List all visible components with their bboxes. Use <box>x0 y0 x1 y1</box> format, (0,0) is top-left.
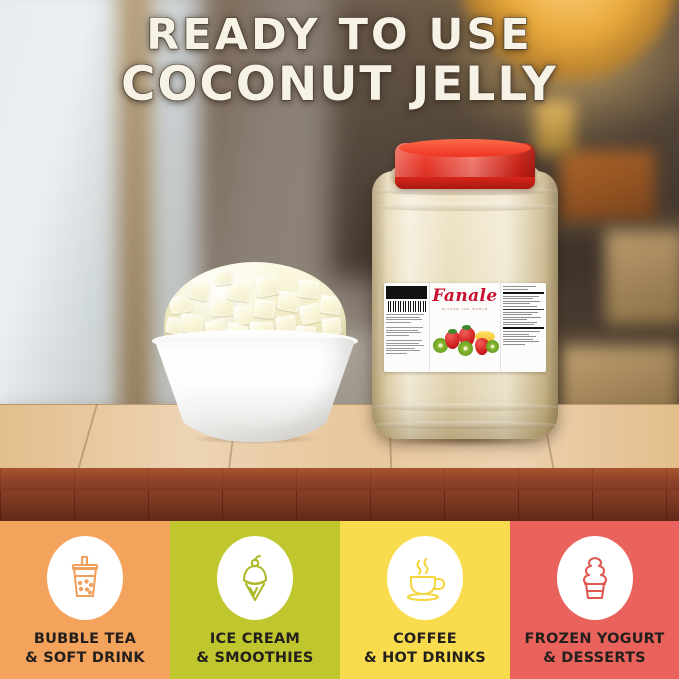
fruit-photo <box>431 323 499 357</box>
feature-bubble-tea[interactable]: BUBBLE TEA & SOFT DRINK <box>0 521 170 679</box>
feature-label: BUBBLE TEA & SOFT DRINK <box>25 630 145 668</box>
brand-name: Fanale <box>432 288 497 305</box>
jar-cap-lip <box>395 177 535 189</box>
feature-label-line-1: COFFEE <box>364 630 486 649</box>
product-label: Fanale FLAVOR THE WORLD <box>384 283 546 372</box>
jar-ring-4 <box>372 421 558 429</box>
label-header-block <box>386 286 427 299</box>
barcode <box>388 301 426 312</box>
coffee-cup-icon <box>402 554 448 602</box>
box-blur-1 <box>560 150 655 220</box>
feature-label-line-1: BUBBLE TEA <box>25 630 145 649</box>
use-case-bar: BUBBLE TEA & SOFT DRINK <box>0 521 679 679</box>
product-marketing-image: READY TO USE COCONUT JELLY <box>0 0 679 679</box>
nutrition-facts-panel <box>500 283 546 372</box>
feature-ice-cream[interactable]: ICE CREAM & SMOOTHIES <box>170 521 340 679</box>
table-front-edge <box>0 468 679 491</box>
nutrition-rows-3 <box>503 331 544 345</box>
nutrition-rows-2 <box>503 312 544 326</box>
table-front-face <box>0 491 679 522</box>
icon-badge <box>47 536 123 620</box>
icon-badge <box>217 536 293 620</box>
label-center-panel: Fanale FLAVOR THE WORLD <box>430 283 500 372</box>
feature-label: FROZEN YOGURT & DESSERTS <box>525 630 665 668</box>
brand-tagline: FLAVOR THE WORLD <box>442 307 489 311</box>
nutrition-rows-1 <box>503 296 544 307</box>
box-blur-2 <box>605 230 679 325</box>
label-left-panel <box>384 283 430 372</box>
jar-ring-2 <box>372 203 558 211</box>
nutrition-rule-1 <box>503 292 544 294</box>
nutrition-header-lines <box>503 286 544 290</box>
product-jar: Fanale FLAVOR THE WORLD <box>372 141 558 441</box>
window-frame-blur <box>118 0 152 420</box>
feature-label-line-2: & HOT DRINKS <box>364 649 486 668</box>
bubble-tea-icon <box>63 554 107 602</box>
feature-label-line-2: & DESSERTS <box>525 649 665 668</box>
feature-coffee[interactable]: COFFEE & HOT DRINKS <box>340 521 510 679</box>
feature-frozen-yogurt[interactable]: FROZEN YOGURT & DESSERTS <box>510 521 679 679</box>
feature-label-line-2: & SOFT DRINK <box>25 649 145 668</box>
jar-ring-3 <box>372 403 558 411</box>
bowl-body <box>154 338 356 442</box>
jar-cap-top <box>399 139 531 157</box>
ice-cream-cone-icon <box>233 554 277 602</box>
ingredient-text-lines <box>386 314 427 354</box>
nutrition-rule-2 <box>503 309 544 310</box>
bowl-of-coconut-jelly <box>150 262 360 444</box>
feature-label-line-1: ICE CREAM <box>196 630 313 649</box>
frozen-yogurt-icon <box>573 554 617 602</box>
feature-label: COFFEE & HOT DRINKS <box>364 630 486 668</box>
nutrition-rule-3 <box>503 327 544 329</box>
icon-badge <box>557 536 633 620</box>
icon-badge <box>387 536 463 620</box>
feature-label-line-1: FROZEN YOGURT <box>525 630 665 649</box>
feature-label: ICE CREAM & SMOOTHIES <box>196 630 313 668</box>
feature-label-line-2: & SMOOTHIES <box>196 649 313 668</box>
